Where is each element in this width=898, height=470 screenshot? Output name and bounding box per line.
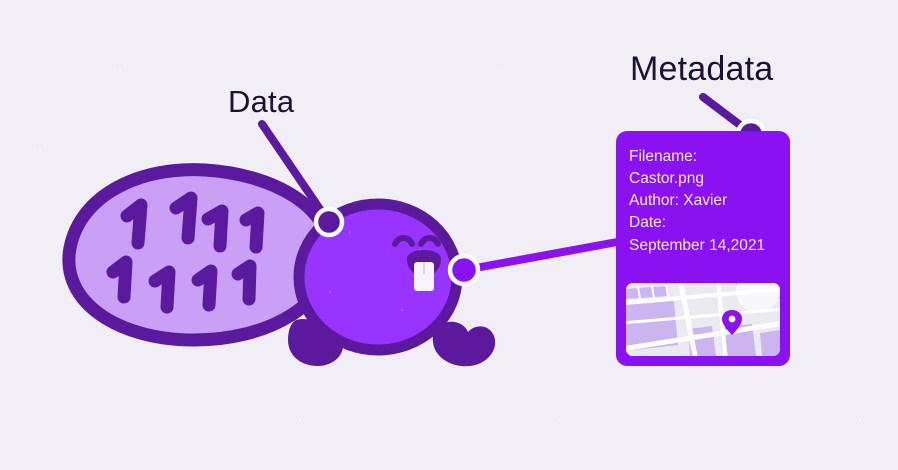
date-value: September 14,2021: [629, 235, 778, 257]
metadata-fields: Filename: Castor.png Author: Xavier Date…: [629, 146, 778, 257]
filename-label: Filename:: [629, 146, 778, 168]
filename-value: Castor.png: [629, 168, 778, 190]
card-connector: [450, 240, 628, 284]
beaver-tail: [69, 170, 330, 340]
data-label: Data: [228, 86, 294, 117]
metadata-label: Metadata: [630, 52, 773, 86]
card-anchor-dot: [450, 256, 478, 284]
date-label: Date:: [629, 212, 778, 234]
map-thumbnail[interactable]: [626, 283, 780, 356]
author-field: Author: Xavier: [629, 190, 778, 212]
map-thumbnail-graphic: [626, 283, 780, 356]
metadata-card: Filename: Castor.png Author: Xavier Date…: [616, 131, 790, 366]
illustration-canvas: Data Metadata Filename: Castor.png Autho…: [0, 0, 898, 470]
beaver-teeth: [414, 262, 434, 291]
data-anchor-dot: [316, 209, 342, 235]
